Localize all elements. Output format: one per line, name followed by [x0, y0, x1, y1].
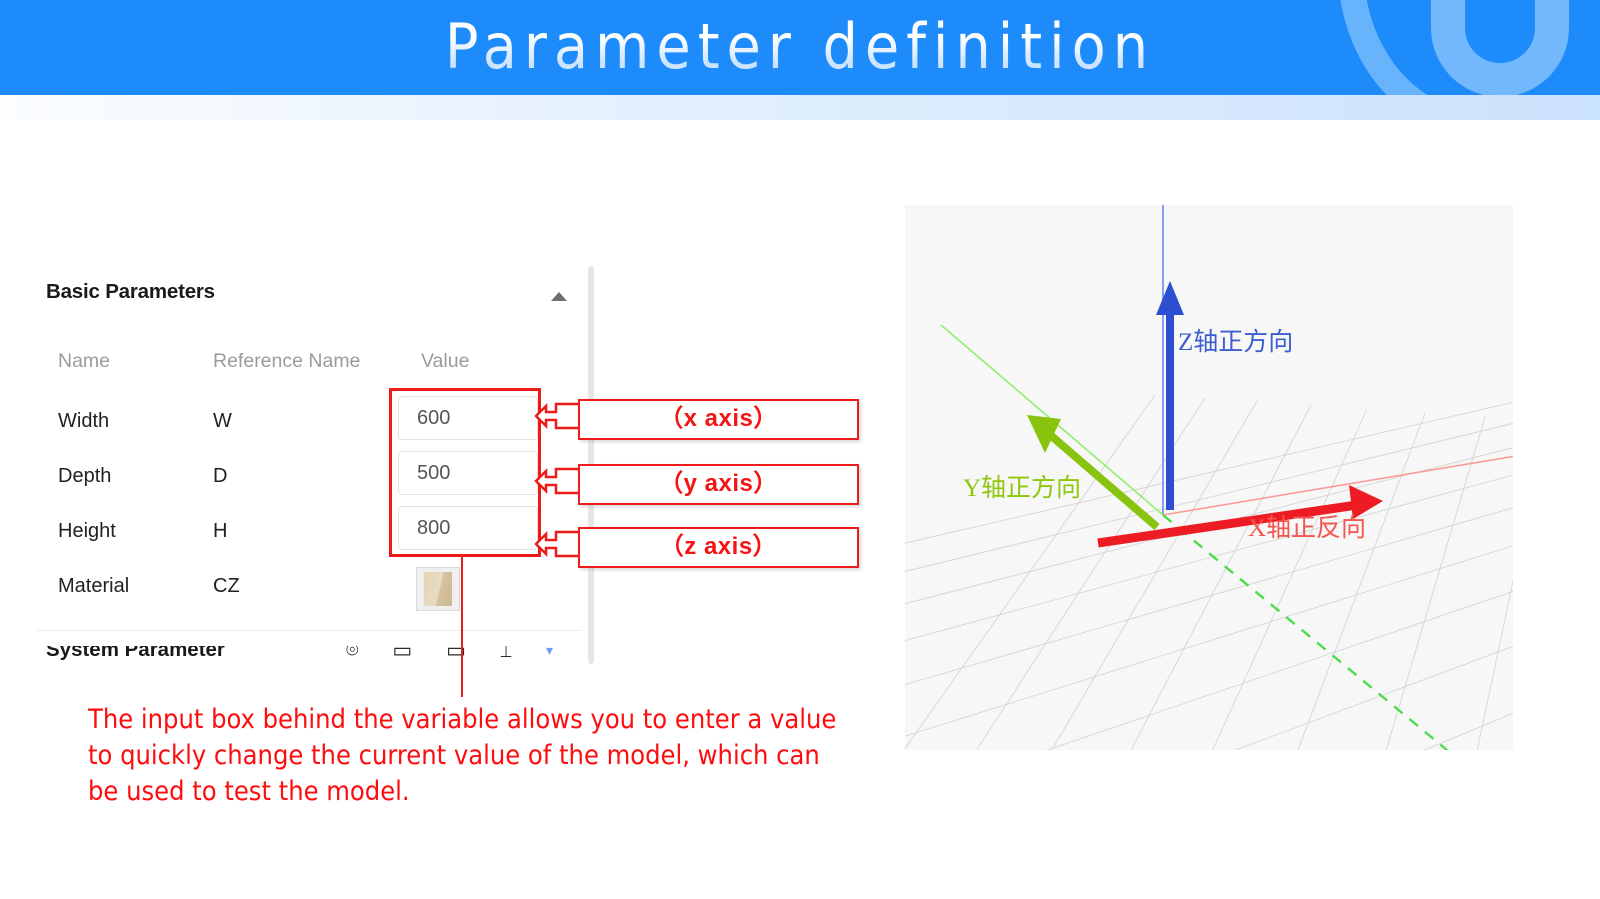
height-value-text: 800	[417, 517, 450, 540]
table-row: Depth D 500	[58, 465, 588, 505]
depth-value-input[interactable]: 500	[398, 451, 538, 495]
x-axis-label: X轴正反向	[1248, 508, 1366, 544]
panel-title: Basic Parameters	[46, 280, 215, 304]
panel-header[interactable]: Basic Parameters	[46, 266, 588, 322]
caret-up-icon[interactable]	[551, 292, 567, 301]
column-headers: Name Reference Name Value	[58, 350, 588, 376]
page-header: Parameter definition	[0, 0, 1600, 95]
param-name: Depth	[58, 465, 111, 488]
material-swatch[interactable]	[416, 567, 460, 611]
material-swatch-image	[424, 572, 452, 606]
callout-y-axis: （y axis）	[578, 464, 859, 505]
param-reference: W	[213, 410, 232, 433]
chevron-down-icon: ▾	[546, 646, 553, 659]
z-axis-arrow	[1156, 281, 1184, 510]
column-header-name: Name	[58, 350, 110, 373]
y-axis-negative-dashed	[1163, 515, 1465, 750]
z-axis-label: Z轴正方向	[1178, 322, 1293, 358]
table-row: Material CZ	[58, 575, 588, 615]
callout-z-axis-label: （z axis）	[580, 529, 857, 565]
ground-grid	[905, 381, 1513, 750]
callout-z-axis: （z axis）	[578, 527, 859, 568]
width-value-input[interactable]: 600	[398, 396, 538, 440]
system-parameter-label: System Parameter	[46, 646, 225, 662]
depth-value-text: 500	[417, 462, 450, 485]
param-name: Height	[58, 520, 116, 543]
basic-parameters-panel: Basic Parameters Name Reference Name Val…	[36, 266, 588, 664]
param-reference: D	[213, 465, 227, 488]
annotation-note: The input box behind the variable allows…	[88, 702, 848, 810]
header-gradient-band	[0, 95, 1600, 120]
column-header-value: Value	[421, 350, 469, 373]
callout-y-axis-label: （y axis）	[580, 466, 857, 502]
height-value-input[interactable]: 800	[398, 506, 538, 550]
param-reference: CZ	[213, 575, 240, 598]
panel-divider	[36, 630, 582, 631]
callout-x-axis: （x axis）	[578, 399, 859, 440]
callout-x-axis-label: （x axis）	[580, 401, 857, 437]
system-parameter-icons: ⌾ ▭ ▭ ⌶	[346, 646, 526, 663]
system-parameter-header[interactable]: System Parameter ⌾ ▭ ▭ ⌶ ▾	[46, 646, 588, 672]
param-name: Material	[58, 575, 129, 598]
table-row: Height H 800	[58, 520, 588, 560]
table-row: Width W 600	[58, 410, 588, 450]
column-header-reference-name: Reference Name	[213, 350, 360, 373]
callout-leader-line	[461, 557, 463, 697]
param-reference: H	[213, 520, 227, 543]
y-axis-label: Y轴正方向	[963, 468, 1081, 504]
width-value-text: 600	[417, 407, 450, 430]
param-name: Width	[58, 410, 109, 433]
u-logo-icon	[1330, 0, 1600, 95]
